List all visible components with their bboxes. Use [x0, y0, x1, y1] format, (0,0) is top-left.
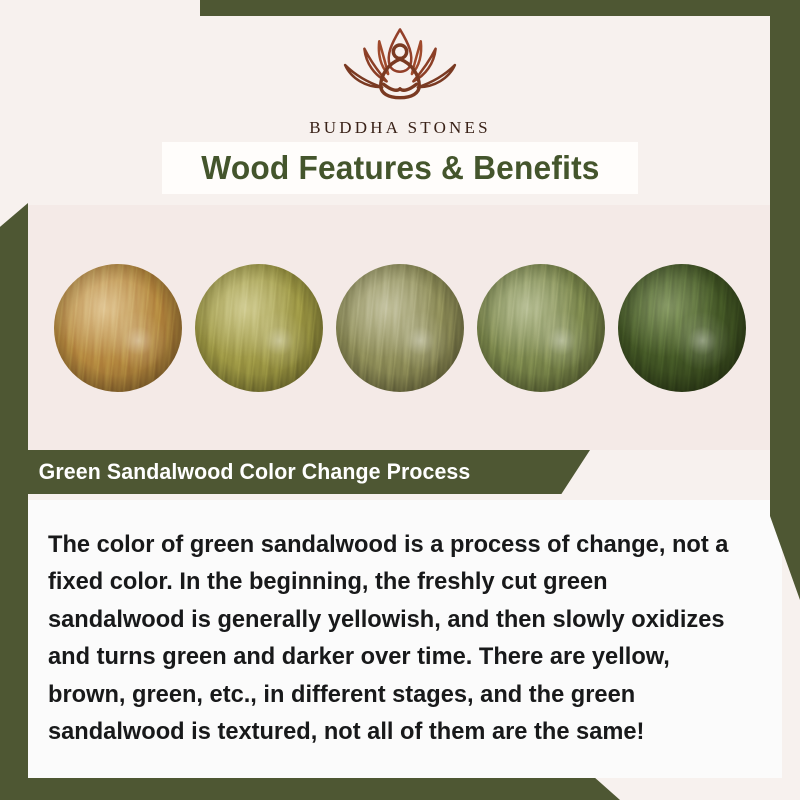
frame-bottom-border — [0, 778, 620, 800]
bead-shading — [195, 264, 323, 392]
infographic-card: BUDDHA STONES Wood Features & Benefits G… — [0, 0, 800, 800]
frame-left-border — [0, 203, 28, 800]
bead-shading — [618, 264, 746, 392]
frame-top-left-notch — [0, 0, 200, 16]
brand-name: BUDDHA STONES — [0, 118, 800, 138]
page-title: Wood Features & Benefits — [201, 149, 599, 187]
bead-showcase-strip — [28, 205, 772, 450]
bead-shading — [336, 264, 464, 392]
bead-stage-2-yellow-green — [195, 264, 323, 392]
lotus-meditation-figure-icon — [325, 22, 475, 114]
section-body-text: The color of green sandalwood is a proce… — [48, 526, 749, 751]
bead-stage-3-olive-grey — [336, 264, 464, 392]
section-header-bar: Green Sandalwood Color Change Process — [18, 450, 590, 494]
bead-stage-5-dark-green — [618, 264, 746, 392]
bead-stage-4-moss-green — [477, 264, 605, 392]
bead-shading — [54, 264, 182, 392]
bead-stage-1-yellow-tan — [54, 264, 182, 392]
section-header-title: Green Sandalwood Color Change Process — [39, 459, 471, 485]
page-title-band: Wood Features & Benefits — [162, 142, 638, 194]
brand-header: BUDDHA STONES — [0, 22, 800, 138]
bead-shading — [477, 264, 605, 392]
section-body-panel: The color of green sandalwood is a proce… — [18, 500, 782, 778]
